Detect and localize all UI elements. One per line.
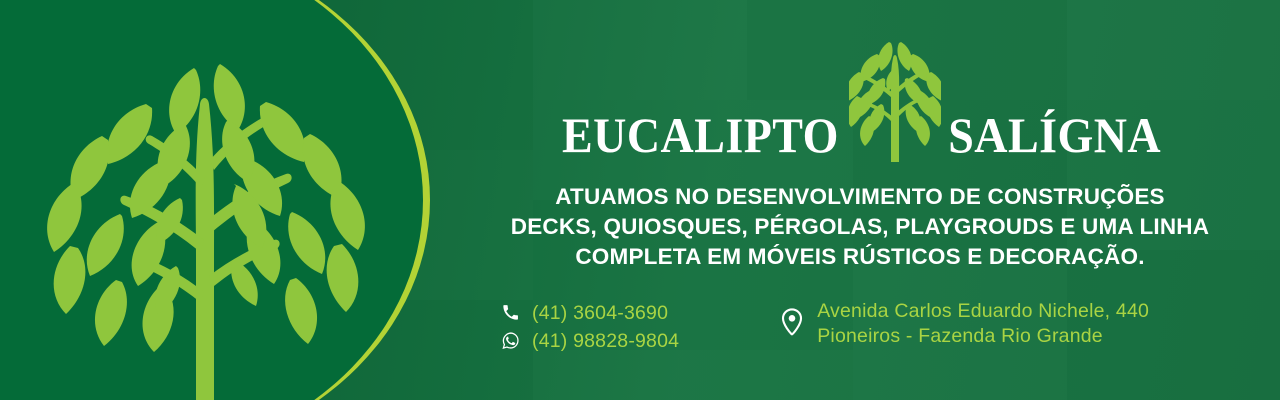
tagline-line-1: ATUAMOS NO DESENVOLVIMENTO DE CONSTRUÇÕE… bbox=[440, 182, 1280, 212]
phone-number: (41) 3604-3690 bbox=[532, 302, 668, 324]
phone-contact-group: (41) 3604-3690 (41) 98828-9804 bbox=[500, 300, 679, 353]
tagline-line-2: DECKS, QUIOSQUES, PÉRGOLAS, PLAYGROUDS E… bbox=[440, 212, 1280, 242]
tree-icon bbox=[28, 8, 408, 400]
brand-title: EUCALIPTO bbox=[440, 96, 1280, 160]
banner-content: EUCALIPTO bbox=[440, 0, 1280, 400]
address-line-2: Pioneiros - Fazenda Rio Grande bbox=[817, 325, 1149, 347]
address-group[interactable]: Avenida Carlos Eduardo Nichele, 440 Pion… bbox=[779, 300, 1149, 347]
phone-icon bbox=[500, 302, 521, 323]
tagline: ATUAMOS NO DESENVOLVIMENTO DE CONSTRUÇÕE… bbox=[440, 182, 1280, 272]
tagline-line-3: COMPLETA EM MÓVEIS RÚSTICOS E DECORAÇÃO. bbox=[440, 242, 1280, 272]
brand-word-right: SALÍGNA bbox=[948, 110, 1161, 160]
small-tree-icon bbox=[849, 96, 941, 152]
whatsapp-number: (41) 98828-9804 bbox=[532, 330, 679, 352]
address-lines: Avenida Carlos Eduardo Nichele, 440 Pion… bbox=[817, 300, 1149, 347]
brand-word-left: EUCALIPTO bbox=[562, 110, 839, 160]
address-line-1: Avenida Carlos Eduardo Nichele, 440 bbox=[817, 300, 1149, 322]
whatsapp-contact-row[interactable]: (41) 98828-9804 bbox=[500, 328, 679, 353]
contact-bar: (41) 3604-3690 (41) 98828-9804 bbox=[500, 300, 1280, 353]
promotional-banner: EUCALIPTO bbox=[0, 0, 1280, 400]
map-pin-icon bbox=[779, 307, 805, 341]
phone-contact-row[interactable]: (41) 3604-3690 bbox=[500, 300, 679, 325]
whatsapp-icon bbox=[500, 330, 521, 351]
